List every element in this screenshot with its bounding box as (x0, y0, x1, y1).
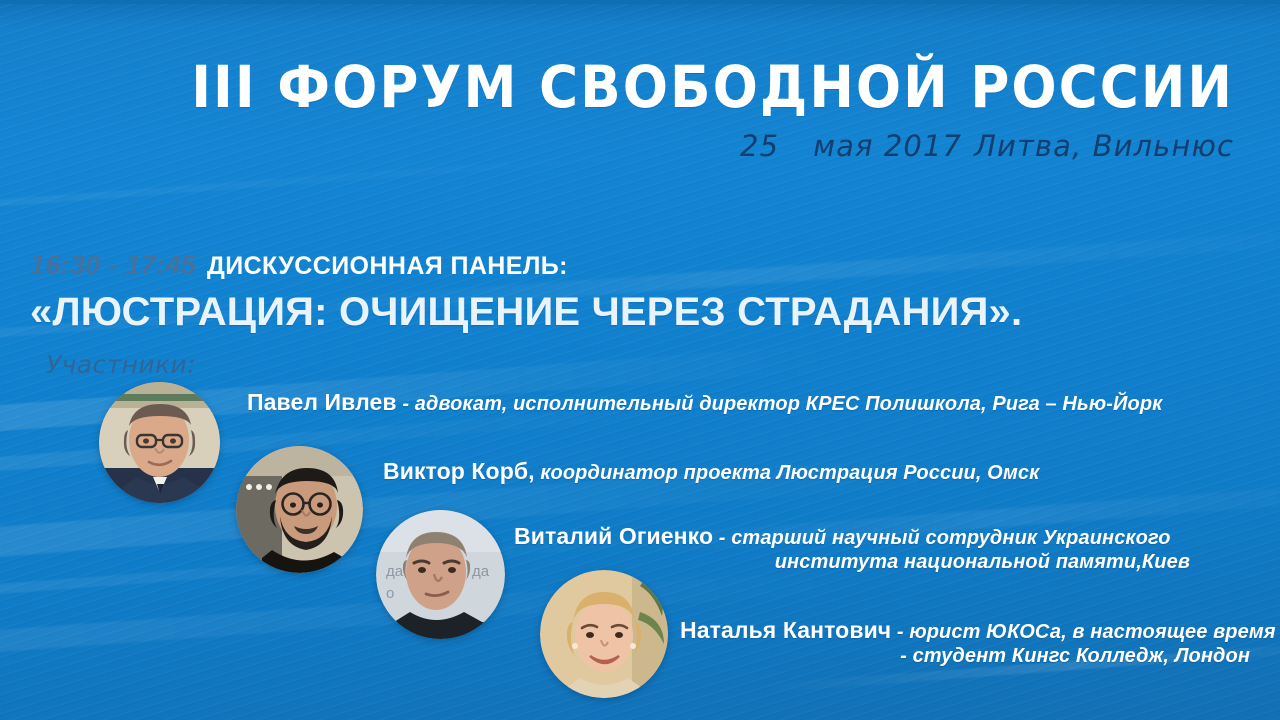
participant-role-line2: - студент Кингс Колледж, Лондон (680, 644, 1250, 668)
participant-name: Наталья Кантович (680, 617, 891, 643)
participant-name: Виктор Корб, (383, 458, 535, 484)
event-month-year: мая 2017 (813, 129, 962, 163)
participant-role-line2: института национальной памяти,Киев (514, 550, 1190, 574)
avatar-vitaliy-ogienko: да о да (376, 510, 505, 639)
participant-name: Виталий Огиенко (514, 523, 713, 549)
participant-line-1: Павел Ивлев - адвокат, исполнительный ди… (247, 388, 1162, 416)
participants-label: Участники: (46, 350, 196, 379)
avatar-viktor-korb (236, 446, 363, 573)
avatar-natalya-kantovich (540, 570, 668, 698)
session-time: 16:30 - 17:45 (30, 250, 196, 280)
event-location: Литва, Вильнюс (974, 129, 1234, 163)
svg-text:о: о (386, 585, 394, 602)
event-day: 25 (740, 129, 779, 163)
participant-role: координатор проекта Люстрация России, Ом… (535, 462, 1040, 484)
participant-role: - адвокат, исполнительный директор КРЕС … (397, 393, 1163, 415)
participant-name: Павел Ивлев (247, 389, 397, 415)
svg-text:да: да (472, 563, 490, 580)
session-block: 16:30 - 17:45ДИСКУССИОННАЯ ПАНЕЛЬ: «ЛЮСТ… (30, 252, 1260, 333)
participant-role: - юрист ЮКОСа, в настоящее время (891, 621, 1275, 643)
slide-header: III ФОРУМ СВОБОДНОЙ РОССИИ 25мая 2017Лит… (0, 0, 1280, 163)
event-title: III ФОРУМ СВОБОДНОЙ РОССИИ (22, 58, 1234, 116)
event-meta: 25мая 2017Литва, Вильнюс (46, 129, 1234, 163)
svg-text:да: да (386, 563, 404, 580)
participant-line-3: Виталий Огиенко - старший научный сотруд… (514, 522, 1190, 575)
participant-role: - старший научный сотрудник Украинского (713, 527, 1170, 549)
participant-line-2: Виктор Корб, координатор проекта Люстрац… (383, 457, 1039, 485)
session-topic: «ЛЮСТРАЦИЯ: ОЧИЩЕНИЕ ЧЕРЕЗ СТРАДАНИЯ». (30, 291, 1260, 333)
avatar-pavel-ivlev (99, 382, 220, 503)
session-kind: ДИСКУССИОННАЯ ПАНЕЛЬ: (207, 252, 568, 280)
participant-line-4: Наталья Кантович - юрист ЮКОСа, в настоя… (680, 616, 1250, 669)
session-heading-row: 16:30 - 17:45ДИСКУССИОННАЯ ПАНЕЛЬ: (30, 252, 1260, 279)
